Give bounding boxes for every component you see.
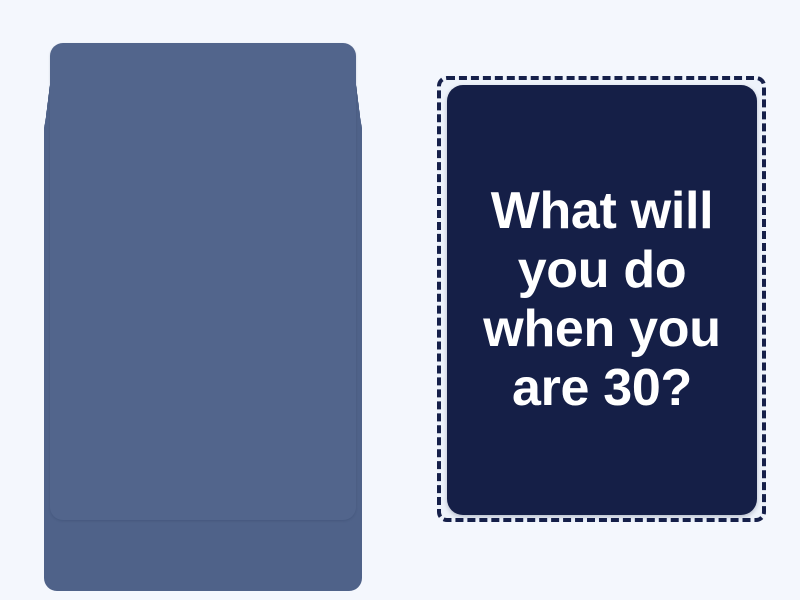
deck-top-card[interactable]	[50, 43, 356, 520]
question-card-text: What will you do when you are 30?	[465, 182, 739, 418]
card-deck[interactable]	[44, 43, 362, 553]
question-card[interactable]: What will you do when you are 30?	[447, 85, 757, 515]
app-root: What will you do when you are 30?	[0, 0, 800, 600]
